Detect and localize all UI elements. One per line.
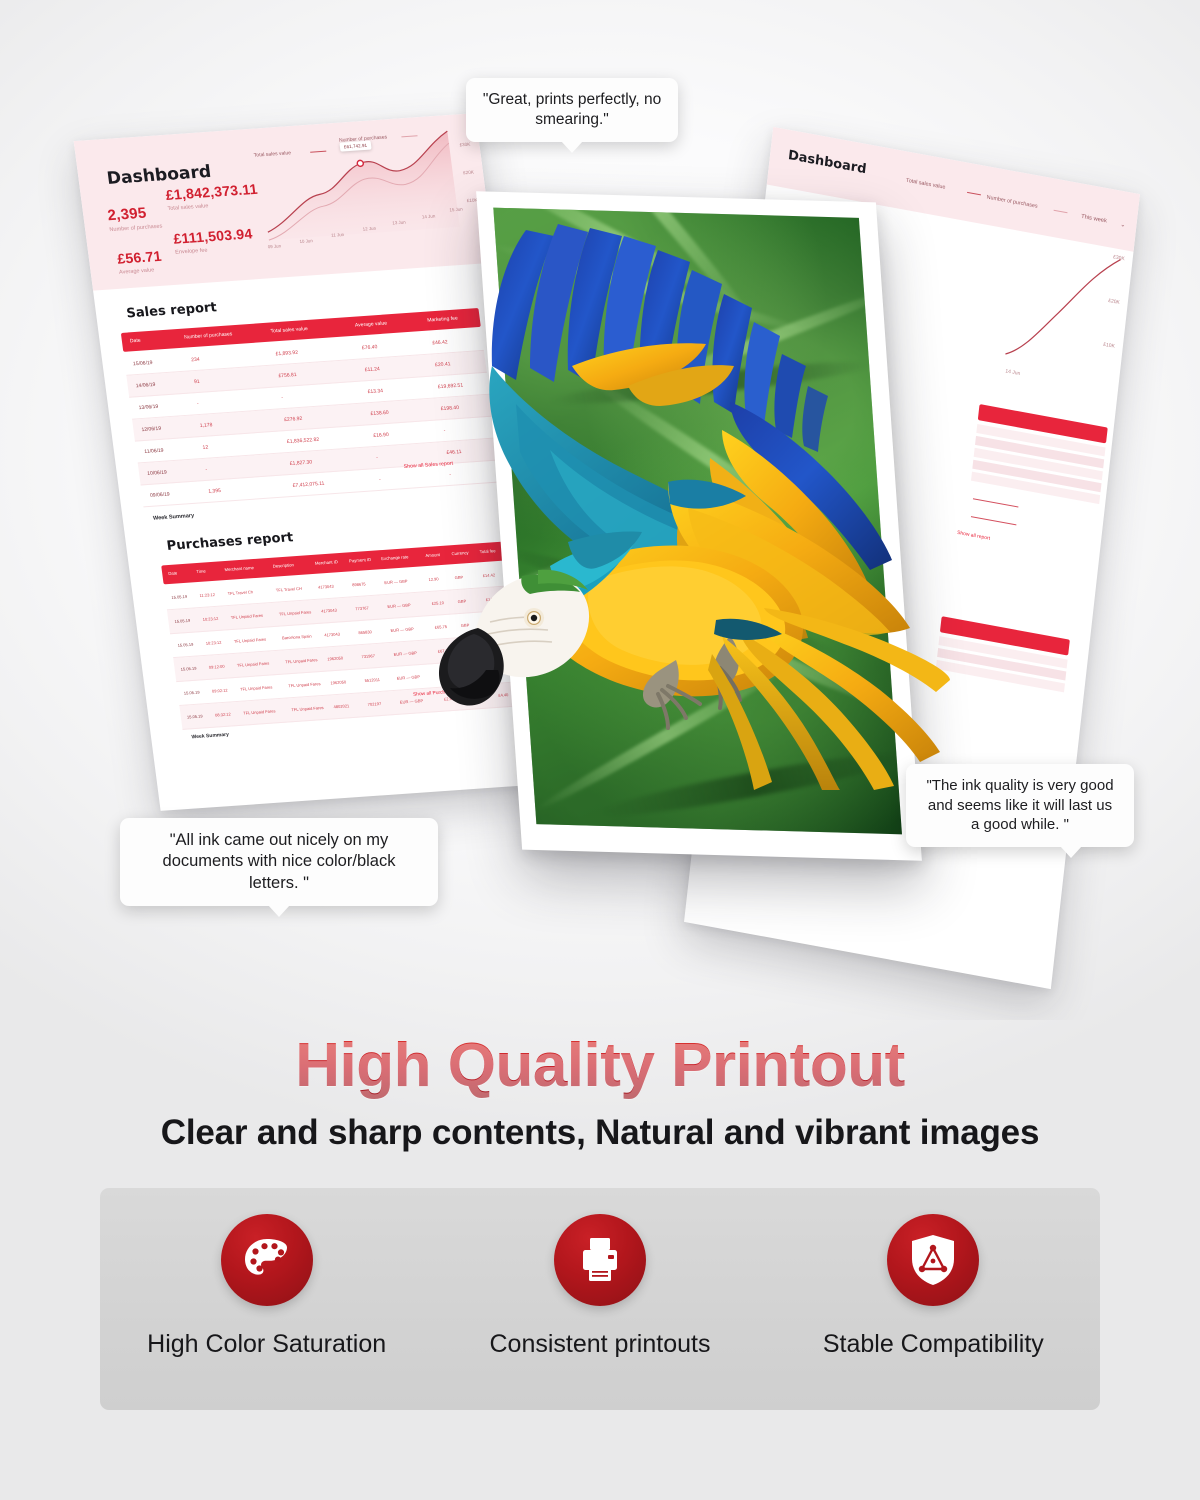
show-all-report-link[interactable]: Show all report bbox=[957, 530, 991, 542]
table-cell: 12/06/19 bbox=[141, 425, 161, 432]
table-cell: £46.11 bbox=[446, 448, 462, 455]
table-cell: Barcelona Spain bbox=[282, 634, 312, 641]
page-subtitle: Clear and sharp contents, Natural and vi… bbox=[0, 1113, 1200, 1153]
table-cell: £1,893.92 bbox=[275, 349, 298, 357]
table-cell: 09/06/19 bbox=[150, 491, 170, 498]
table-cell: £16.64 bbox=[489, 620, 502, 626]
table-cell: - bbox=[443, 427, 445, 433]
table-cell: £16.90 bbox=[373, 431, 389, 438]
photo-image bbox=[493, 208, 902, 835]
table-cell: 12.90 bbox=[428, 576, 439, 582]
x-tick: 12 Jun bbox=[362, 226, 376, 232]
feature-stable-compatibility: Stable Compatibility bbox=[783, 1214, 1083, 1359]
table-cell: 10:23:12 bbox=[205, 640, 221, 646]
table-cell: £14.42 bbox=[486, 596, 499, 602]
range-selector[interactable]: This week bbox=[1081, 214, 1107, 225]
table-cell: 5512011 bbox=[364, 677, 380, 683]
table-cell: £14.42 bbox=[492, 644, 505, 650]
quote-bubble-top: "Great, prints perfectly, no smearing." bbox=[466, 78, 678, 142]
table-cell: 15.05.19 bbox=[171, 594, 187, 600]
table-cell: £76.40 bbox=[362, 344, 378, 351]
week-summary-label: Week Summary bbox=[153, 513, 195, 522]
document-title: Dashboard bbox=[787, 148, 867, 177]
table-cell: £4.40 bbox=[498, 692, 509, 698]
table-cell: TFL Travel CH bbox=[276, 586, 303, 593]
column-header: Marketing fee bbox=[427, 315, 458, 323]
x-tick: 15 Jun bbox=[449, 207, 463, 213]
table-cell: 15.05.19 bbox=[177, 642, 193, 648]
table-cell: £7.77 bbox=[495, 668, 506, 674]
table-cell: 15/06/19 bbox=[133, 359, 153, 366]
table-cell: £276.92 bbox=[284, 415, 303, 422]
printer-icon bbox=[575, 1235, 625, 1285]
table-cell: £14.42 bbox=[482, 573, 495, 579]
sales-line-chart: Total sales value Number of purchases bbox=[245, 122, 483, 257]
column-header: Date bbox=[130, 338, 141, 345]
shield-icon bbox=[908, 1233, 958, 1287]
page-title: High Quality Printout bbox=[0, 1030, 1200, 1101]
table-cell: 09:12:00 bbox=[209, 664, 225, 670]
column-header: Amount bbox=[425, 552, 440, 558]
feature-label: Consistent printouts bbox=[490, 1330, 711, 1359]
column-header: Description bbox=[272, 562, 294, 568]
section-title: Purchases report bbox=[166, 530, 294, 554]
table-cell: 1962050 bbox=[327, 656, 343, 662]
table-cell: GBP bbox=[454, 575, 463, 581]
table-cell: 12 bbox=[202, 444, 208, 450]
table-cell: 702197 bbox=[367, 701, 381, 707]
feature-label: Stable Compatibility bbox=[823, 1330, 1044, 1359]
table-cell: GBP bbox=[467, 670, 476, 676]
feature-icon-circle bbox=[554, 1214, 646, 1306]
table-cell: GBP bbox=[470, 694, 479, 700]
table-cell: EUR — GBP bbox=[384, 579, 408, 586]
table-cell: 91 bbox=[194, 378, 200, 384]
table-cell: 09:02:12 bbox=[212, 688, 228, 694]
table-cell: 08:32:12 bbox=[215, 712, 231, 718]
table-cell: £2.00 bbox=[444, 696, 455, 702]
palette-icon bbox=[241, 1234, 293, 1286]
table-cell: TFL Unpaid Fares bbox=[243, 709, 276, 716]
table-cell: £198.40 bbox=[440, 404, 459, 411]
table-cell: TFL Unpaid Fares bbox=[279, 610, 312, 617]
column-header: Merchant name bbox=[224, 565, 254, 572]
table-cell: TFL Travel Ch bbox=[227, 589, 253, 596]
table-cell: GBP bbox=[461, 623, 470, 629]
table-cell: TFL Unpaid Fares bbox=[288, 681, 321, 688]
table-cell: £67.75 bbox=[438, 648, 451, 654]
sales-table-body: 15/06/19234£1,893.92£76.40£46.4214/06/19… bbox=[124, 329, 501, 507]
kpi-value: £56.71 bbox=[116, 248, 162, 267]
feature-high-color-saturation: High Color Saturation bbox=[117, 1214, 417, 1359]
x-tick: 09 Jun bbox=[267, 243, 281, 249]
column-header: Payment ID bbox=[349, 557, 372, 564]
purchases-table-body: 15.05.1911:23:12TFL Travel ChTFL Travel … bbox=[164, 562, 526, 730]
table-cell: TFL Unpaid Fares bbox=[285, 657, 318, 664]
table-cell: GBP bbox=[464, 647, 473, 653]
kpi-label: Number of purchases bbox=[109, 224, 163, 234]
x-tick: 10 Jun bbox=[299, 238, 313, 244]
kpi-band: Dashboard 2,395 Number of purchases £1,8… bbox=[74, 113, 495, 291]
column-header: Average value bbox=[355, 320, 388, 328]
table-cell: £19,692.51 bbox=[438, 382, 464, 390]
table-cell: 4173043 bbox=[321, 608, 337, 614]
table-cell: 14/06/19 bbox=[135, 381, 155, 388]
kpi-value: 2,395 bbox=[107, 204, 162, 225]
column-header: Exchange rate bbox=[381, 554, 409, 561]
feature-icon-circle bbox=[887, 1214, 979, 1306]
table-cell: 15.05.19 bbox=[187, 714, 203, 720]
table-cell: EUR — GBP bbox=[393, 650, 417, 657]
feature-icon-circle bbox=[221, 1214, 313, 1306]
kpi-card: £111,503.94 Envelope fee bbox=[172, 225, 254, 255]
table-cell: £756.81 bbox=[278, 372, 297, 379]
table-cell: £138.60 bbox=[370, 409, 389, 416]
legend-num-purchases: Number of purchases bbox=[986, 194, 1037, 209]
table-cell: £13.34 bbox=[367, 388, 383, 395]
chevron-down-icon[interactable]: ⌄ bbox=[1120, 221, 1126, 229]
table-cell: £65.75 bbox=[434, 624, 447, 630]
column-header: Currency bbox=[451, 550, 469, 556]
feature-panel: High Color Saturation Consistent printou… bbox=[100, 1188, 1100, 1410]
table-cell: £25.10 bbox=[431, 600, 444, 606]
table-cell: £1,827.30 bbox=[289, 459, 312, 467]
table-cell: EUR — GBP bbox=[400, 698, 424, 705]
y-tick: £20K bbox=[463, 170, 474, 176]
y-tick: £30K bbox=[459, 142, 470, 148]
x-tick: 13 Jun bbox=[392, 220, 406, 226]
x-tick: 14 Jun bbox=[422, 213, 436, 219]
table-cell: 234 bbox=[191, 356, 200, 363]
feature-label: High Color Saturation bbox=[147, 1330, 386, 1359]
table-cell: TFL Unpaid Fares bbox=[230, 613, 263, 620]
headline-block: High Quality Printout Clear and sharp co… bbox=[0, 1030, 1200, 1153]
kpi-value: £111,503.94 bbox=[172, 225, 253, 246]
quote-bubble-left: "All ink came out nicely on my documents… bbox=[120, 818, 438, 906]
table-cell: 13/06/19 bbox=[138, 403, 158, 410]
table-cell: GBP bbox=[457, 599, 466, 605]
table-cell: 865830 bbox=[358, 629, 372, 635]
kpi-card: 2,395 Number of purchases bbox=[107, 204, 163, 234]
table-cell: 11/06/19 bbox=[144, 447, 164, 454]
table-cell: 4173043 bbox=[318, 584, 334, 590]
chart-svg bbox=[1002, 235, 1129, 404]
kpi-label: Average value bbox=[119, 267, 164, 276]
table-cell: - bbox=[379, 476, 381, 482]
feature-consistent-printouts: Consistent printouts bbox=[450, 1214, 750, 1359]
table-cell: EUR — GBP bbox=[387, 603, 411, 610]
table-cell: £7,412,075.11 bbox=[292, 480, 325, 488]
table-cell: 1962050 bbox=[330, 679, 346, 685]
quote-bubble-right: "The ink quality is very good and seems … bbox=[906, 764, 1134, 847]
table-cell: £20.41 bbox=[435, 361, 451, 368]
table-divider bbox=[971, 516, 1016, 525]
column-header: Total fee bbox=[479, 548, 496, 554]
table-cell: - bbox=[197, 400, 199, 406]
column-header: Number of purchases bbox=[184, 331, 233, 340]
table-cell: 10:23:12 bbox=[202, 616, 218, 622]
week-summary-label: Week Summary bbox=[191, 732, 229, 741]
table-cell: £1,836,522.82 bbox=[287, 436, 320, 444]
column-header: Time bbox=[196, 568, 206, 574]
table-cell: 4173043 bbox=[324, 632, 340, 638]
table-cell: 15.05.19 bbox=[174, 618, 190, 624]
table-cell: 11:23:12 bbox=[199, 592, 215, 598]
table-cell: 15.05.19 bbox=[184, 690, 200, 696]
table-cell: EUR — GBP bbox=[390, 626, 414, 633]
column-header: Merchant ID bbox=[315, 559, 339, 566]
photo-print bbox=[476, 191, 922, 861]
table-cell: 898675 bbox=[352, 582, 366, 588]
section-title: Sales report bbox=[126, 300, 218, 321]
table-cell: EUR — GBP bbox=[396, 674, 420, 681]
table-cell: - bbox=[205, 466, 207, 472]
table-cell: £11.24 bbox=[364, 366, 380, 373]
column-header: Total sales value bbox=[270, 326, 308, 335]
table-cell: 731967 bbox=[361, 653, 375, 659]
table-cell: 15.05.19 bbox=[180, 666, 196, 672]
hero-scene: Dashboard 2,395 Number of purchases £1,8… bbox=[0, 0, 1200, 1020]
table-cell: TFL Unpaid Fares bbox=[291, 705, 324, 712]
kpi-card: £1,842,373.11 Total sales value bbox=[165, 181, 260, 212]
kpi-label: Envelope fee bbox=[175, 244, 255, 255]
legend-total-sales: Total sales value bbox=[906, 178, 946, 191]
table-cell: £46.42 bbox=[432, 339, 448, 346]
kpi-card: £56.71 Average value bbox=[116, 248, 163, 276]
table-divider bbox=[973, 498, 1018, 507]
x-tick: 11 Jun bbox=[331, 232, 345, 238]
table-cell: - bbox=[281, 395, 283, 401]
table-cell: 1,178 bbox=[199, 422, 212, 429]
table-cell: TFL Unpaid Fares bbox=[237, 661, 270, 668]
table-cell: - bbox=[376, 454, 378, 460]
table-cell: 10/06/19 bbox=[147, 469, 167, 476]
table-cell: 1,395 bbox=[208, 487, 221, 494]
table-cell: - bbox=[449, 471, 451, 477]
legend-swatch bbox=[967, 192, 981, 196]
column-header: Date bbox=[168, 570, 178, 576]
table-cell: TFL Unpaid Fares bbox=[240, 685, 273, 692]
table-cell: 4802021 bbox=[333, 703, 349, 709]
secondary-line-chart: £30K £20K £10K 14 Jun bbox=[1002, 235, 1129, 404]
table-cell: 773767 bbox=[355, 605, 369, 611]
legend-swatch bbox=[1054, 210, 1068, 214]
table-cell: £8.75 bbox=[441, 672, 452, 678]
table-cell: TFL Unpaid Fares bbox=[234, 637, 267, 644]
